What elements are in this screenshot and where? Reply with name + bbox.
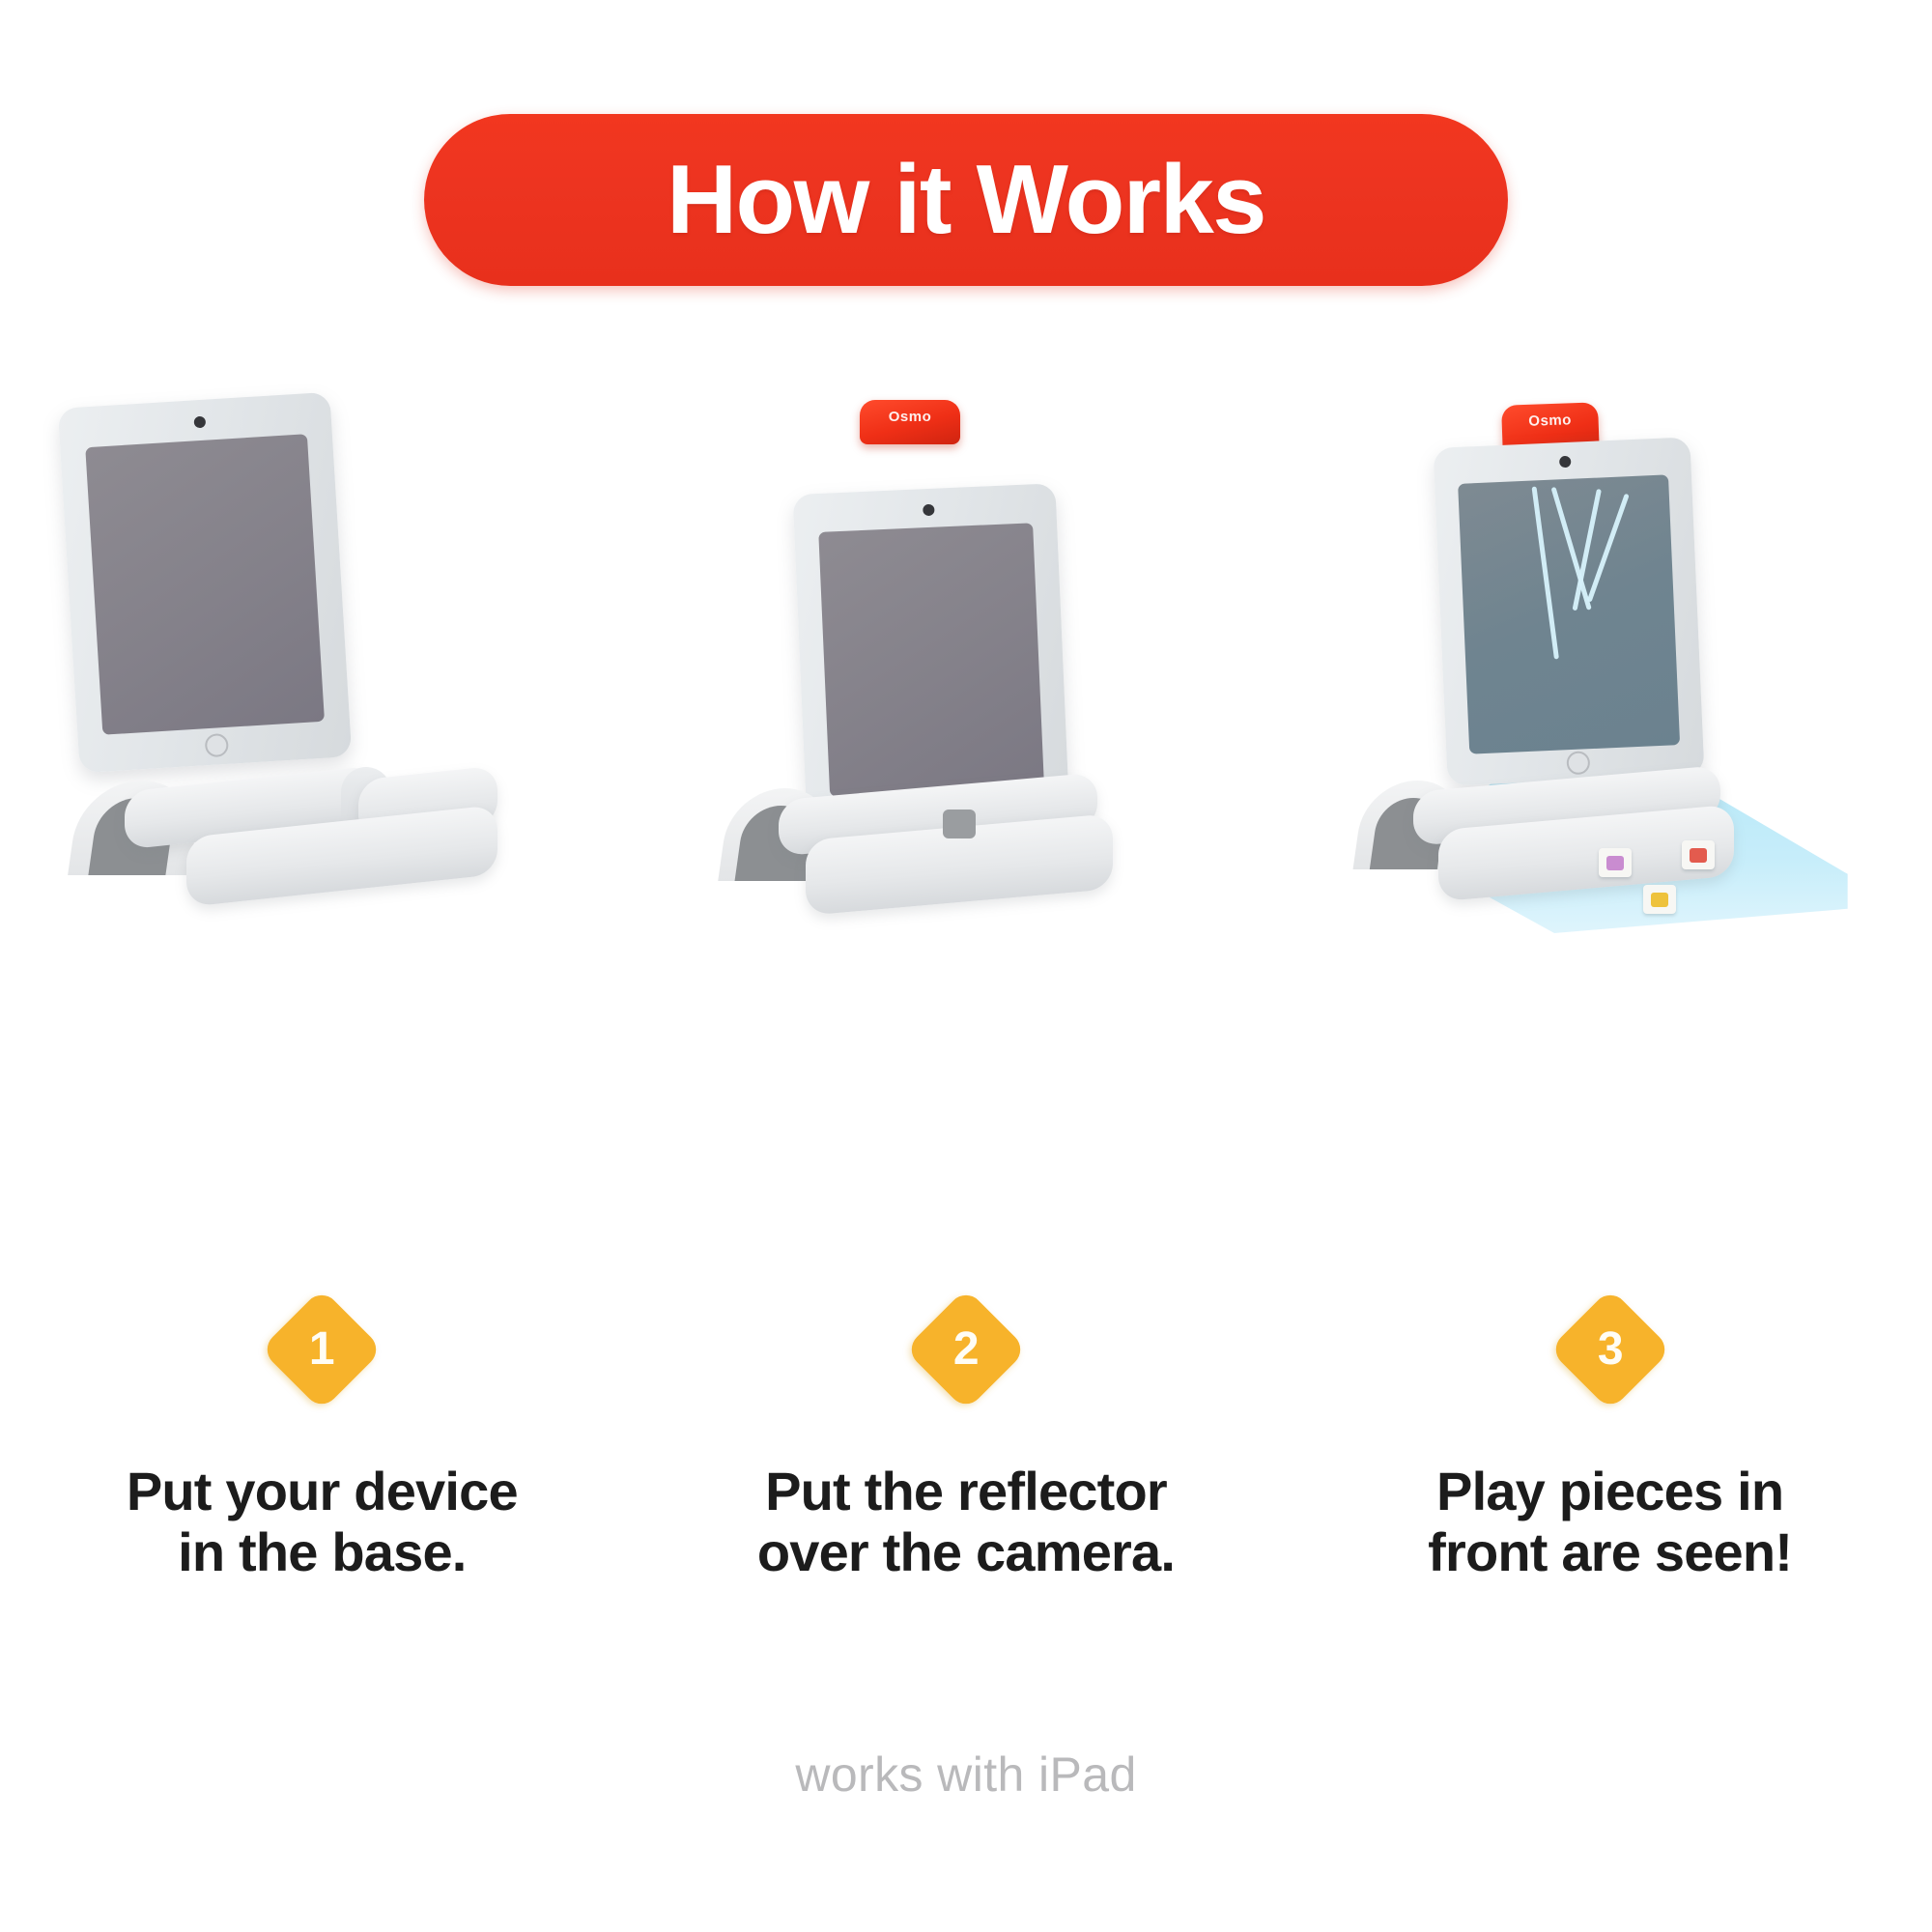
step-badge-1-number: 1 xyxy=(309,1326,335,1373)
tablet-home-button-1 xyxy=(205,733,229,757)
play-piece-yellow xyxy=(1643,885,1676,914)
illustration-row: Osmo Osmo xyxy=(0,386,1932,947)
play-piece-purple-glyph xyxy=(1606,856,1624,870)
step-illustration-2: Osmo xyxy=(696,386,1236,947)
badge-col-3: 3 xyxy=(1340,1306,1881,1393)
reflection-ray-1 xyxy=(1531,486,1558,659)
step-2-stage: Osmo xyxy=(696,386,1236,947)
step-1-stage xyxy=(51,386,592,947)
step-caption-3: Play pieces in front are seen! xyxy=(1340,1461,1881,1583)
play-piece-yellow-glyph xyxy=(1651,893,1668,907)
tablet-device-1 xyxy=(58,392,353,774)
step-badge-2: 2 xyxy=(904,1288,1027,1410)
tablet-camera-icon-1 xyxy=(194,416,207,429)
step-caption-1-line1: Put your device xyxy=(51,1461,592,1521)
step-caption-3-line2: front are seen! xyxy=(1340,1521,1881,1582)
osmo-brand-label-3: Osmo xyxy=(1528,412,1572,430)
step-caption-2-line2: over the camera. xyxy=(696,1521,1236,1582)
badge-col-1: 1 xyxy=(51,1306,592,1393)
step-illustration-1 xyxy=(51,386,592,947)
step-3-stage: Osmo xyxy=(1340,386,1881,947)
osmo-base-3 xyxy=(1353,769,1788,914)
tablet-camera-icon-2 xyxy=(923,504,935,517)
step-number-row: 1 2 3 xyxy=(0,1306,1932,1393)
osmo-brand-label-2: Osmo xyxy=(889,409,932,425)
header-banner: How it Works xyxy=(424,114,1508,286)
step-caption-3-line1: Play pieces in xyxy=(1340,1461,1881,1521)
osmo-reflector-2: Osmo xyxy=(860,400,960,444)
badge-col-2: 2 xyxy=(696,1306,1236,1393)
page-title: How it Works xyxy=(667,152,1265,249)
play-piece-purple xyxy=(1599,848,1632,877)
osmo-base-1 xyxy=(51,761,515,906)
step-badge-2-number: 2 xyxy=(953,1326,980,1373)
play-piece-red-glyph xyxy=(1690,848,1707,863)
header-banner-wrap: How it Works xyxy=(0,114,1932,286)
compatibility-note: works with iPad xyxy=(0,1747,1932,1803)
step-badge-3-number: 3 xyxy=(1597,1326,1623,1373)
step-badge-1: 1 xyxy=(261,1288,384,1410)
tablet-screen-2 xyxy=(818,523,1044,796)
play-piece-red xyxy=(1682,840,1715,869)
step-caption-2-line1: Put the reflector xyxy=(696,1461,1236,1521)
tablet-screen-1 xyxy=(86,434,326,734)
step-caption-1-line2: in the base. xyxy=(51,1521,592,1582)
tablet-device-3 xyxy=(1433,437,1704,785)
base-center-nub-2 xyxy=(943,810,976,838)
osmo-base-2 xyxy=(715,777,1159,922)
step-caption-2: Put the reflector over the camera. xyxy=(696,1461,1236,1583)
step-badge-3: 3 xyxy=(1548,1288,1671,1410)
tablet-camera-icon-3 xyxy=(1559,456,1572,469)
step-caption-1: Put your device in the base. xyxy=(51,1461,592,1583)
tablet-screen-3 xyxy=(1458,474,1680,753)
step-caption-row: Put your device in the base. Put the ref… xyxy=(0,1461,1932,1583)
step-illustration-3: Osmo xyxy=(1340,386,1881,947)
